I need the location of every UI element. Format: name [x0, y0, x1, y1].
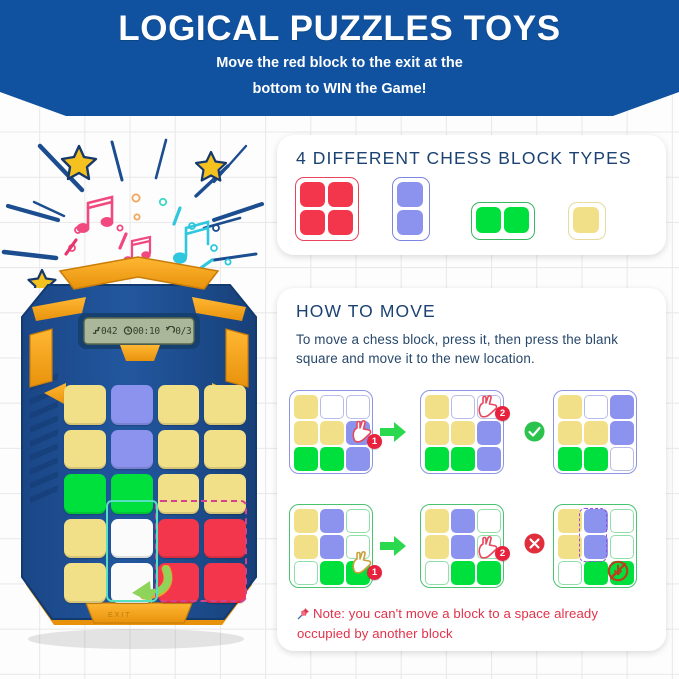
device-cell-yellow[interactable] [158, 430, 200, 470]
level-icon [92, 326, 101, 335]
lcd-timer-value: 00:10 [133, 326, 160, 337]
device-cell-yellow[interactable] [64, 563, 106, 603]
left-grip [30, 329, 52, 387]
center-button [120, 345, 160, 361]
device-cell-yellow[interactable] [64, 385, 106, 425]
music-note-icon [77, 197, 114, 233]
device-cell-green[interactable] [111, 474, 153, 514]
device-cell-yellow[interactable] [204, 474, 246, 514]
green-curved-arrow-icon [122, 565, 174, 603]
press-badge-1: 1 [367, 565, 382, 580]
device-cell-yellow[interactable] [204, 385, 246, 425]
press-badge-2: 2 [495, 546, 510, 561]
exit-bar [86, 603, 192, 623]
page-title: LOGICAL PUZZLES TOYS [0, 11, 679, 48]
stopwatch-icon [123, 325, 133, 335]
star-icon [196, 152, 226, 181]
device-cell-blue[interactable] [111, 385, 153, 425]
device-cell-yellow[interactable] [158, 474, 200, 514]
right-grip [226, 329, 248, 387]
red-x-icon [524, 533, 545, 554]
how-to-move-title: HOW TO MOVE [296, 301, 436, 322]
lcd-level-value: 042 [101, 326, 117, 337]
device-cell-yellow[interactable] [204, 430, 246, 470]
blue-1x2-block [392, 177, 430, 241]
lcd-readout: 042 00:10 0/3 [92, 325, 191, 337]
note-label: Note: you can't move a block to a space … [297, 606, 598, 641]
arrow-right-icon [380, 536, 406, 556]
green-2x1-block [471, 202, 535, 240]
device-cell-white[interactable] [111, 519, 153, 559]
pushpin-icon [297, 607, 310, 620]
red-2x2-block [295, 177, 359, 241]
block-types-title: 4 DIFFERENT CHESS BLOCK TYPES [296, 148, 632, 169]
device-cell-red[interactable] [204, 563, 246, 603]
header-banner: LOGICAL PUZZLES TOYS Move the red block … [0, 0, 679, 116]
device-cell-yellow[interactable] [64, 430, 106, 470]
block-types-row [291, 175, 651, 247]
press-badge-2: 2 [495, 406, 510, 421]
device-cell-yellow[interactable] [64, 519, 106, 559]
no-entry-icon [607, 560, 629, 582]
device-cell-red[interactable] [204, 519, 246, 559]
how-to-move-description: To move a chess block, press it, then pr… [296, 330, 648, 369]
lcd-moves-value: 0/3 [175, 326, 191, 337]
device-cell-red[interactable] [158, 519, 200, 559]
block-types-card: 4 DIFFERENT CHESS BLOCK TYPES [277, 135, 666, 255]
banner-subtitle-line2: bottom to WIN the Game! [0, 79, 679, 100]
exit-label: EXIT [108, 612, 132, 619]
yellow-1x1-block [568, 202, 606, 240]
device-cell-blue[interactable] [111, 430, 153, 470]
device-cell-green[interactable] [64, 474, 106, 514]
arrow-right-icon [380, 422, 406, 442]
device-cell-yellow[interactable] [158, 385, 200, 425]
green-check-icon [524, 421, 545, 442]
undo-icon [165, 326, 175, 335]
note-text: Note: you can't move a block to a space … [297, 604, 653, 644]
grid-valid-3 [553, 390, 637, 474]
banner-subtitle-line1: Move the red block to the exit at the [0, 53, 679, 74]
how-to-move-card: HOW TO MOVE To move a chess block, press… [277, 288, 666, 651]
